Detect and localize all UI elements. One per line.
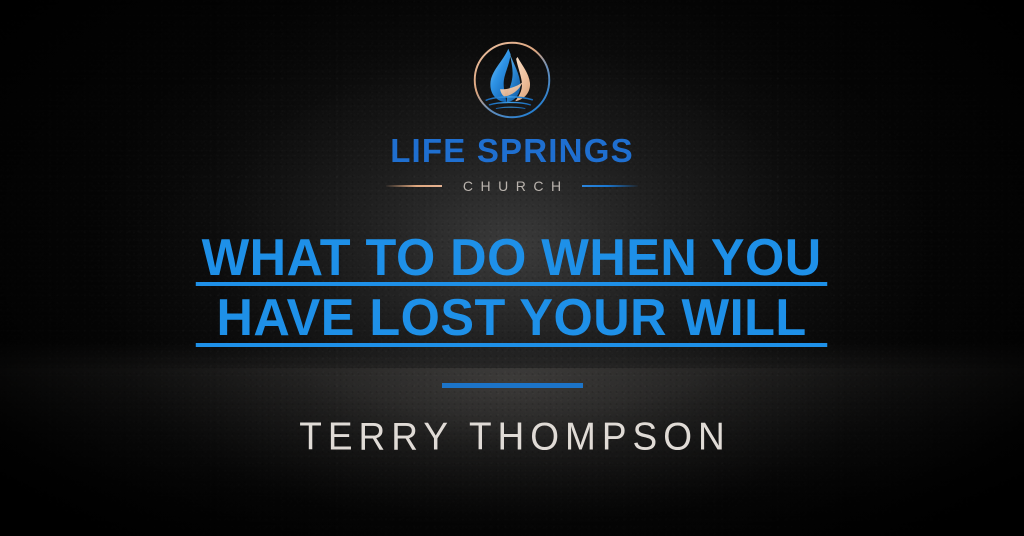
brand-wordmark: LIFE SPRINGS <box>390 134 634 167</box>
brand-subword: CHURCH <box>455 178 568 194</box>
sermon-title-line-2: HAVE LOST YOUR WILL <box>202 288 822 348</box>
slide-content: LIFE SPRINGS CHURCH WHAT TO DO WHEN YOU … <box>0 0 1024 536</box>
title-speaker-divider <box>442 383 583 388</box>
sermon-title-slide: LIFE SPRINGS CHURCH WHAT TO DO WHEN YOU … <box>0 0 1024 536</box>
logo-ripple-2 <box>489 102 530 104</box>
speaker-name: TERRY THOMPSON <box>293 415 730 459</box>
brand-subtitle-row: CHURCH <box>386 178 637 194</box>
subtitle-rule-right <box>582 185 638 187</box>
sermon-title-line-1: WHAT TO DO WHEN YOU <box>202 228 822 288</box>
water-droplet-flame-in-circle-icon <box>466 34 558 126</box>
sermon-title: WHAT TO DO WHEN YOU HAVE LOST YOUR WILL <box>192 228 831 349</box>
logo-ripple-3 <box>496 107 525 108</box>
subtitle-rule-left <box>386 185 442 187</box>
